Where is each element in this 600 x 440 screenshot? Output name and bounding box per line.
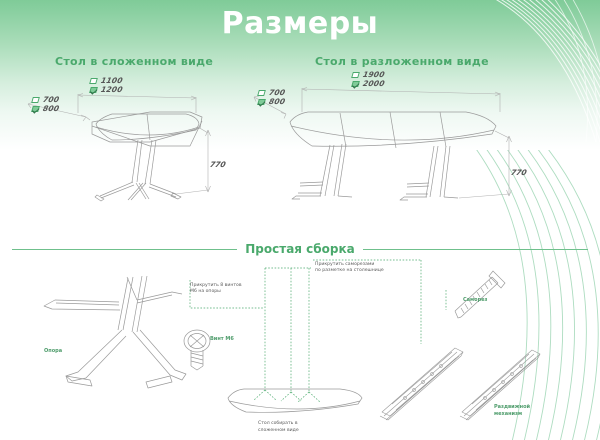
label-bolt: Винт М6 (210, 336, 234, 343)
option-value: 1200 (100, 85, 124, 94)
option-value: 2000 (362, 79, 386, 88)
label-mechanism: Раздвижной механизм (494, 404, 530, 418)
option-row: 700 (32, 95, 59, 104)
option-row: 1100 (90, 76, 123, 85)
folded-width-options[interactable]: 1100 1200 (90, 76, 123, 94)
note-screws: Прикрутить 8 винтов М6 на опоры (190, 283, 242, 295)
assembly-guide-lines (190, 260, 446, 402)
label-assemble-note: Стол собирать в сложенном виде (258, 420, 299, 434)
tabletop-drawing (228, 389, 362, 412)
support-leg-drawing (44, 276, 186, 388)
note-self-tapping: Прикрутить саморезами по разметке на сто… (315, 262, 384, 274)
side-arcs-decor-icon (450, 150, 600, 440)
checkbox-checked-icon[interactable] (89, 87, 98, 93)
bolt-m6-drawing (184, 330, 210, 370)
option-value: 800 (268, 97, 286, 106)
hero-banner: Размеры (0, 0, 600, 150)
assembly-divider: Простая сборка (12, 240, 588, 258)
option-row: 800 (258, 97, 285, 106)
option-value: 700 (42, 95, 60, 104)
divider-rule-right (363, 249, 588, 250)
checkbox-checked-icon[interactable] (257, 99, 266, 105)
checkbox-unchecked-icon[interactable] (351, 72, 360, 78)
option-row: 700 (258, 88, 285, 97)
unfolded-table-legs (292, 144, 458, 200)
unfolded-depth-options[interactable]: 700 800 (258, 88, 285, 106)
option-row: 2000 (352, 79, 385, 88)
option-row: 800 (32, 104, 59, 113)
unfolded-width-options[interactable]: 1900 2000 (352, 70, 385, 88)
label-screw: Саморез (463, 297, 487, 304)
divider-rule-left (12, 249, 237, 250)
option-value: 800 (42, 104, 60, 113)
option-row: 1200 (90, 85, 123, 94)
folded-height-label: 770 (209, 160, 227, 169)
option-value: 700 (268, 88, 286, 97)
option-row: 1900 (352, 70, 385, 79)
checkbox-unchecked-icon[interactable] (89, 78, 98, 84)
page-title: Размеры (0, 6, 600, 41)
instruction-sheet: Размеры Стол в сложенном виде Стол в раз… (0, 0, 600, 440)
unfolded-section-caption: Стол в разложенном виде (315, 55, 489, 68)
folded-section-caption: Стол в сложенном виде (55, 55, 213, 68)
assembly-caption: Простая сборка (245, 242, 355, 256)
checkbox-unchecked-icon[interactable] (257, 90, 266, 96)
unfolded-height-label: 770 (510, 168, 528, 177)
checkbox-checked-icon[interactable] (31, 106, 40, 112)
checkbox-checked-icon[interactable] (351, 81, 360, 87)
label-support: Опора (44, 348, 62, 355)
checkbox-unchecked-icon[interactable] (31, 97, 40, 103)
option-value: 1900 (362, 70, 386, 79)
folded-depth-options[interactable]: 700 800 (32, 95, 59, 113)
option-value: 1100 (100, 76, 124, 85)
